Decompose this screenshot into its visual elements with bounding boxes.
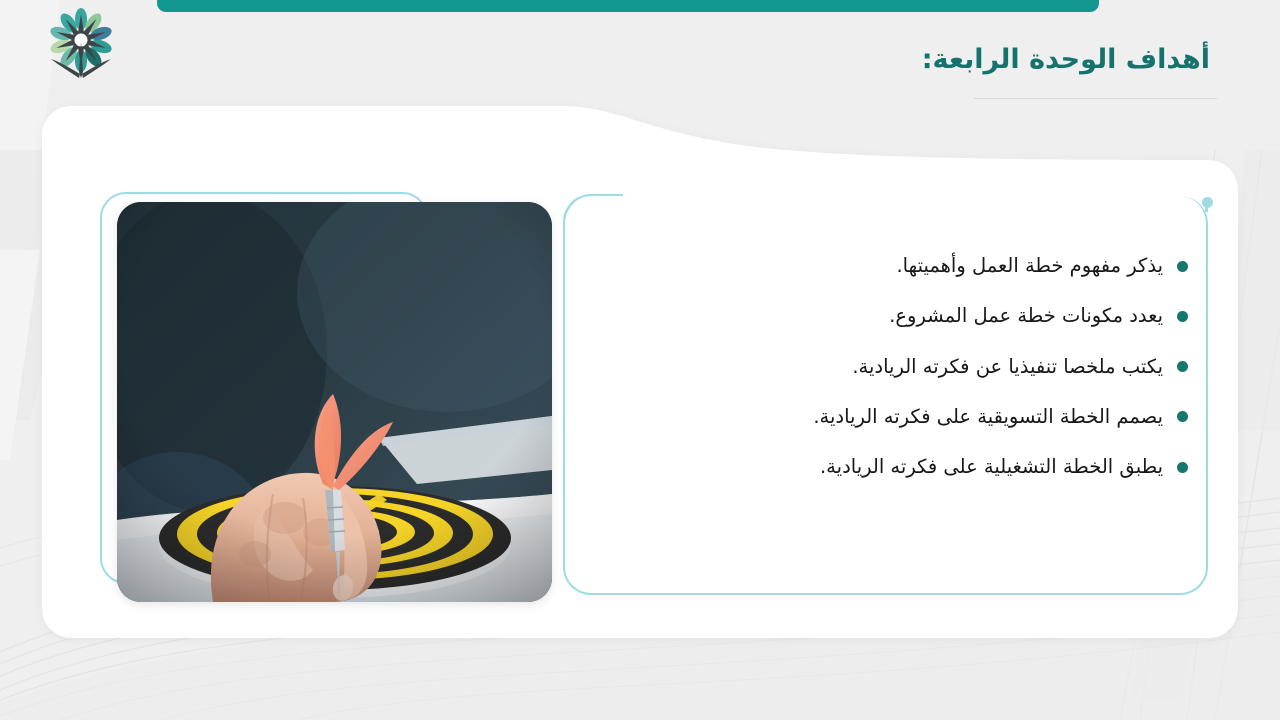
objective-text: يكتب ملخصا تنفيذيا عن فكرته الريادية. bbox=[852, 353, 1163, 381]
dart-target-photo bbox=[117, 202, 552, 602]
bullet-dot-icon bbox=[1177, 261, 1188, 272]
tvtc-starburst-logo bbox=[46, 8, 116, 82]
list-item: يكتب ملخصا تنفيذيا عن فكرته الريادية. bbox=[768, 353, 1188, 381]
page-title: أهداف الوحدة الرابعة: bbox=[922, 44, 1210, 75]
bullet-dot-icon bbox=[1177, 311, 1188, 322]
list-item: يصمم الخطة التسويقية على فكرته الريادية. bbox=[768, 403, 1188, 431]
top-bar-texture bbox=[157, 0, 1099, 12]
slide-root: أهداف الوحدة الرابعة: bbox=[0, 0, 1280, 720]
list-item: يطبق الخطة التشغيلية على فكرته الريادية. bbox=[768, 453, 1188, 481]
objective-text: يعدد مكونات خطة عمل المشروع. bbox=[889, 302, 1163, 330]
title-underline bbox=[974, 98, 1217, 99]
bullets-frame-dot bbox=[1202, 197, 1213, 208]
bullet-dot-icon bbox=[1177, 361, 1188, 372]
objectives-list: يذكر مفهوم خطة العمل وأهميتها. يعدد مكون… bbox=[768, 252, 1188, 503]
objective-text: يصمم الخطة التسويقية على فكرته الريادية. bbox=[813, 403, 1163, 431]
bullet-dot-icon bbox=[1177, 462, 1188, 473]
top-accent-bar bbox=[157, 0, 1099, 12]
list-item: يذكر مفهوم خطة العمل وأهميتها. bbox=[768, 252, 1188, 280]
list-item: يعدد مكونات خطة عمل المشروع. bbox=[768, 302, 1188, 330]
objective-text: يطبق الخطة التشغيلية على فكرته الريادية. bbox=[820, 453, 1163, 481]
bullet-dot-icon bbox=[1177, 411, 1188, 422]
objective-text: يذكر مفهوم خطة العمل وأهميتها. bbox=[896, 252, 1163, 280]
